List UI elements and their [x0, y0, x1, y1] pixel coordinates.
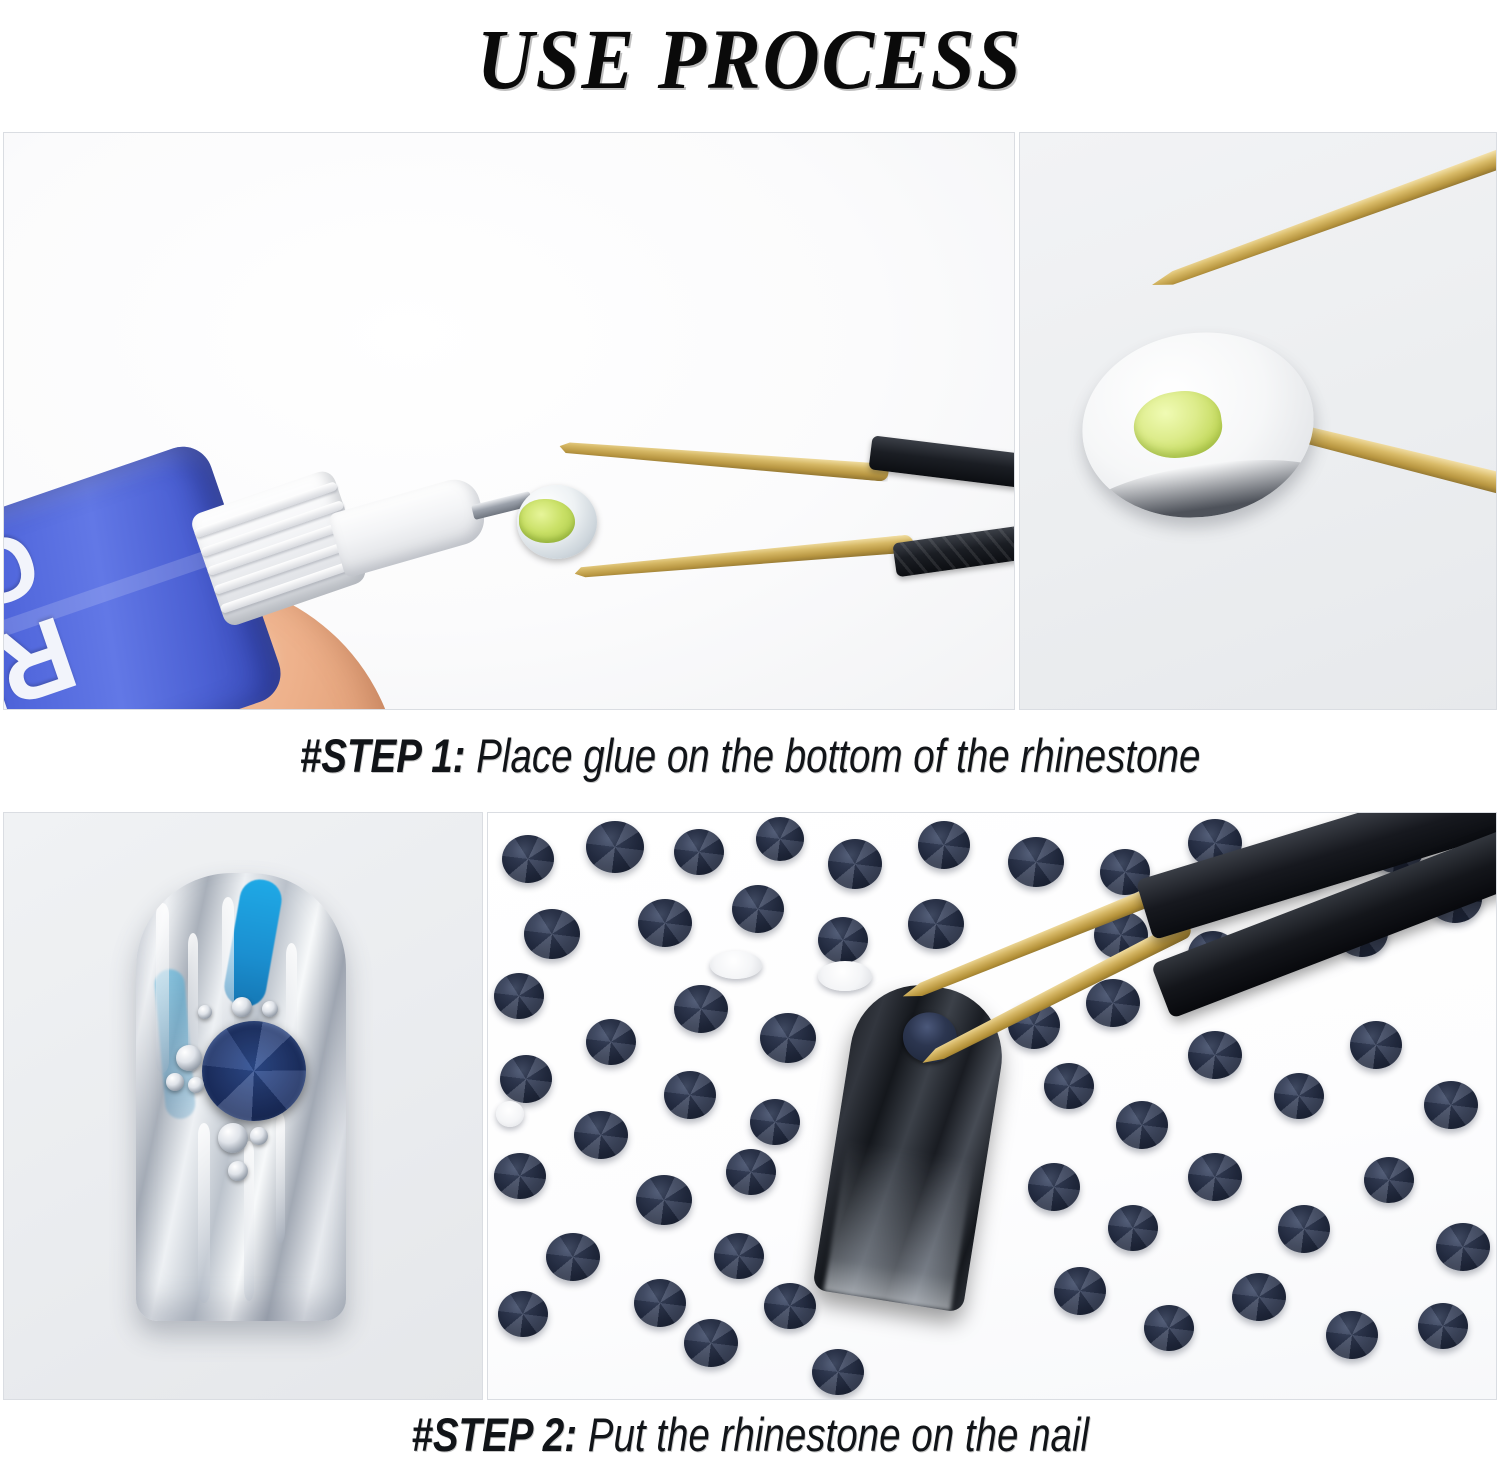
navy-rhinestone	[1424, 1081, 1478, 1129]
navy-rhinestone	[524, 909, 580, 959]
navy-rhinestone	[750, 1099, 800, 1145]
navy-rhinestone	[674, 985, 728, 1033]
navy-rhinestone	[546, 1233, 600, 1281]
rhinestone-white-back	[710, 951, 762, 979]
step-2-caption-inner: #STEP 2: Put the rhinestone on the nail	[411, 1411, 1089, 1458]
step-2-text: Put the rhinestone on the nail	[577, 1408, 1089, 1461]
glue-application-photo: GL RH	[3, 132, 1015, 710]
navy-rhinestone	[714, 1233, 764, 1279]
flat-back-rhinestone	[1070, 318, 1325, 532]
navy-rhinestone	[812, 1349, 864, 1395]
navy-rhinestone	[1108, 1205, 1158, 1251]
navy-rhinestone	[1232, 1273, 1286, 1321]
step-1-caption-inner: #STEP 1: Place glue on the bottom of the…	[300, 732, 1201, 779]
navy-rhinestone	[494, 973, 544, 1019]
navy-rhinestone	[1044, 1063, 1094, 1109]
navy-rhinestone	[1418, 1303, 1468, 1349]
rhinestone-white-back	[496, 1101, 524, 1127]
stone-closeup-scene	[1020, 133, 1496, 709]
step-1-image-row: GL RH	[0, 132, 1500, 710]
rhinestone	[517, 485, 597, 559]
navy-rhinestone	[1144, 1305, 1194, 1351]
navy-rhinestone	[500, 1055, 552, 1103]
white-nozzle	[328, 474, 490, 579]
navy-rhinestone	[1188, 1031, 1242, 1079]
gold-tweezer-tip-upper	[1149, 139, 1497, 295]
silver-bead	[166, 1073, 184, 1091]
navy-rhinestone	[726, 1149, 776, 1195]
navy-rhinestone	[634, 1279, 686, 1327]
navy-rhinestone	[684, 1319, 738, 1367]
rhinestone-white-back	[818, 961, 872, 991]
green-glue-drop	[1130, 386, 1226, 464]
navy-rhinestone	[764, 1283, 816, 1329]
navy-rhinestone	[586, 1019, 636, 1065]
decorated-nail-photo	[3, 812, 483, 1400]
navy-rhinestone	[1350, 1021, 1402, 1069]
glue-scene: GL RH	[4, 133, 1014, 709]
navy-rhinestone	[1086, 979, 1140, 1027]
silver-bead	[228, 1161, 248, 1181]
step-1-label: #STEP 1:	[300, 729, 466, 782]
silver-bead	[218, 1123, 248, 1153]
navy-rhinestone	[1188, 1153, 1242, 1201]
navy-rhinestone	[636, 1175, 692, 1225]
gold-tweezer-tip-upper	[559, 438, 889, 482]
navy-rhinestone	[674, 829, 724, 875]
black-tweezer-handle-lower	[892, 523, 1015, 578]
navy-rhinestone	[574, 1111, 628, 1159]
press-on-nail	[136, 873, 346, 1321]
navy-rhinestone	[1116, 1101, 1168, 1149]
label-text-rh: RH	[3, 592, 90, 710]
silver-bead	[232, 997, 252, 1017]
navy-rhinestone	[1436, 1223, 1490, 1271]
large-navy-rhinestone	[202, 1021, 306, 1121]
navy-rhinestone	[828, 839, 882, 889]
step-2-image-row	[0, 812, 1500, 1400]
navy-rhinestone	[494, 1153, 546, 1199]
silver-bead	[250, 1127, 268, 1145]
step-1-caption: #STEP 1: Place glue on the bottom of the…	[0, 712, 1500, 798]
navy-rhinestone	[760, 1013, 816, 1063]
navy-rhinestone	[1274, 1073, 1324, 1119]
navy-rhinestone	[502, 835, 554, 883]
gold-tweezer-tip-lower	[574, 534, 914, 582]
navy-rhinestone	[756, 817, 804, 861]
green-glue-drop	[519, 499, 575, 543]
scatter-scene	[488, 813, 1496, 1399]
silver-bead	[176, 1045, 202, 1071]
navy-rhinestone	[1054, 1267, 1106, 1315]
navy-rhinestone	[732, 885, 784, 933]
navy-rhinestone	[1278, 1205, 1330, 1253]
nail-scene	[4, 813, 482, 1399]
navy-rhinestone	[638, 899, 692, 947]
navy-rhinestone	[1364, 1157, 1414, 1203]
step-1-text: Place glue on the bottom of the rhinesto…	[465, 729, 1200, 782]
rhinestone-closeup-photo	[1019, 132, 1497, 710]
navy-rhinestone	[1028, 1163, 1080, 1211]
step-2-caption: #STEP 2: Put the rhinestone on the nail	[0, 1402, 1500, 1466]
navy-rhinestone	[818, 917, 868, 963]
silver-bead	[188, 1077, 204, 1093]
silver-bead	[262, 1001, 278, 1017]
silver-bead	[198, 1005, 212, 1019]
navy-rhinestone	[1326, 1311, 1378, 1359]
navy-rhinestone	[1008, 837, 1064, 887]
navy-rhinestone	[908, 899, 964, 949]
rhinestones-scatter-photo	[487, 812, 1497, 1400]
step-2-label: #STEP 2:	[411, 1408, 577, 1461]
page-title: USE PROCESS	[477, 16, 1023, 102]
navy-rhinestone	[918, 821, 970, 869]
black-tweezer-handle-upper	[869, 435, 1015, 488]
navy-rhinestone	[586, 821, 644, 873]
navy-rhinestone	[498, 1291, 548, 1337]
navy-rhinestone	[664, 1071, 716, 1119]
page-title-bar: USE PROCESS	[0, 0, 1500, 118]
